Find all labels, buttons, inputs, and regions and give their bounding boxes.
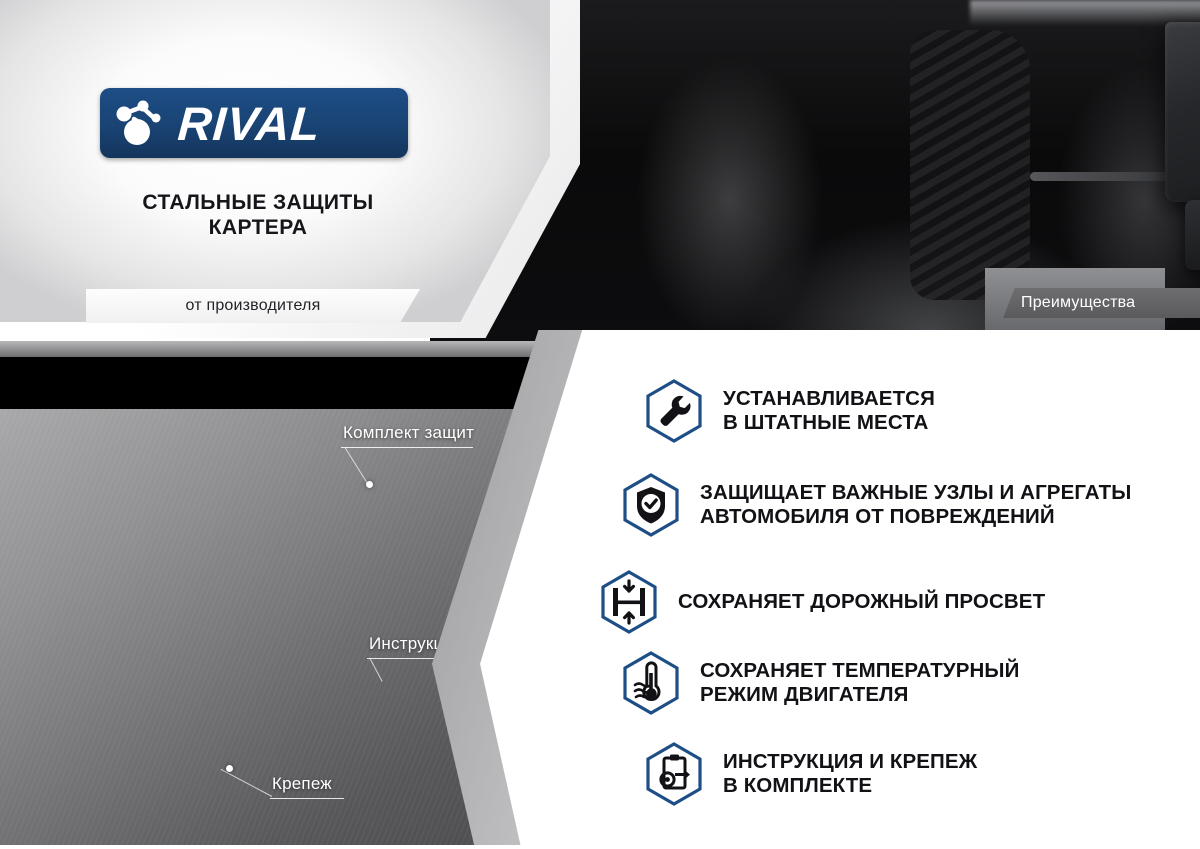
rival-logo: RIVAL	[100, 88, 408, 158]
header-subtitle: от производителя	[186, 297, 321, 315]
feature-item-protection: ЗАЩИЩАЕТ ВАЖНЫЕ УЗЛЫ И АГРЕГАТЫ АВТОМОБИ…	[622, 473, 1131, 537]
header-bottom-hairline	[0, 341, 560, 357]
advantages-tab: Преимущества	[1003, 288, 1200, 318]
rival-logo-text: RIVAL	[176, 96, 322, 151]
callout-fasteners-label: Крепеж	[272, 774, 332, 794]
bumper-highlight	[970, 0, 1200, 26]
callout-fasteners-dot	[226, 765, 233, 772]
bottom-margin	[0, 845, 1200, 849]
callout-kit-rule	[341, 447, 473, 448]
shield-check-icon	[622, 473, 680, 537]
molecule-icon	[112, 97, 176, 149]
page-title: СТАЛЬНЫЕ ЗАЩИТЫ КАРТЕРА	[0, 190, 516, 240]
advantages-tab-label: Преимущества	[1021, 294, 1135, 312]
feature-label: СОХРАНЯЕТ ДОРОЖНЫЙ ПРОСВЕТ	[678, 590, 1045, 614]
suspension-arm-left	[1030, 172, 1170, 181]
feature-label: УСТАНАВЛИВАЕТСЯ В ШТАТНЫЕ МЕСТА	[723, 387, 935, 435]
callout-kit-dot	[366, 481, 373, 488]
feature-item-clearance: СОХРАНЯЕТ ДОРОЖНЫЙ ПРОСВЕТ	[600, 570, 1045, 634]
feature-label: ЗАЩИЩАЕТ ВАЖНЫЕ УЗЛЫ И АГРЕГАТЫ АВТОМОБИ…	[700, 481, 1131, 529]
installed-skid-plate-lower	[1185, 200, 1200, 270]
feature-item-kit-included: ИНСТРУКЦИЯ И КРЕПЕЖ В КОМПЛЕКТЕ	[645, 742, 977, 806]
callout-kit-label: Комплект защит	[343, 423, 474, 443]
feature-item-temperature: СОХРАНЯЕТ ТЕМПЕРАТУРНЫЙ РЕЖИМ ДВИГАТЕЛЯ	[622, 651, 1019, 715]
installed-skid-plate	[1165, 22, 1200, 202]
header-panel	[0, 0, 580, 338]
header-subtitle-strip: от производителя	[86, 289, 420, 323]
black-divider-band	[0, 357, 600, 409]
feature-label: СОХРАНЯЕТ ТЕМПЕРАТУРНЫЙ РЕЖИМ ДВИГАТЕЛЯ	[700, 659, 1019, 707]
callout-fasteners-rule	[270, 798, 344, 799]
clipboard-bolt-icon	[645, 742, 703, 806]
feature-item-installation: УСТАНАВЛИВАЕТСЯ В ШТАТНЫЕ МЕСТА	[645, 379, 935, 443]
feature-label: ИНСТРУКЦИЯ И КРЕПЕЖ В КОМПЛЕКТЕ	[723, 750, 977, 798]
header-silver-backdrop	[0, 0, 550, 322]
wrench-icon	[645, 379, 703, 443]
promo-banner: Преимущества RIVAL СТАЛЬНЫЕ ЗАЩИТЫ КАРТЕ…	[0, 0, 1200, 849]
thermometer-icon	[622, 651, 680, 715]
ground-clearance-icon	[600, 570, 658, 634]
tire-left	[910, 30, 1030, 300]
